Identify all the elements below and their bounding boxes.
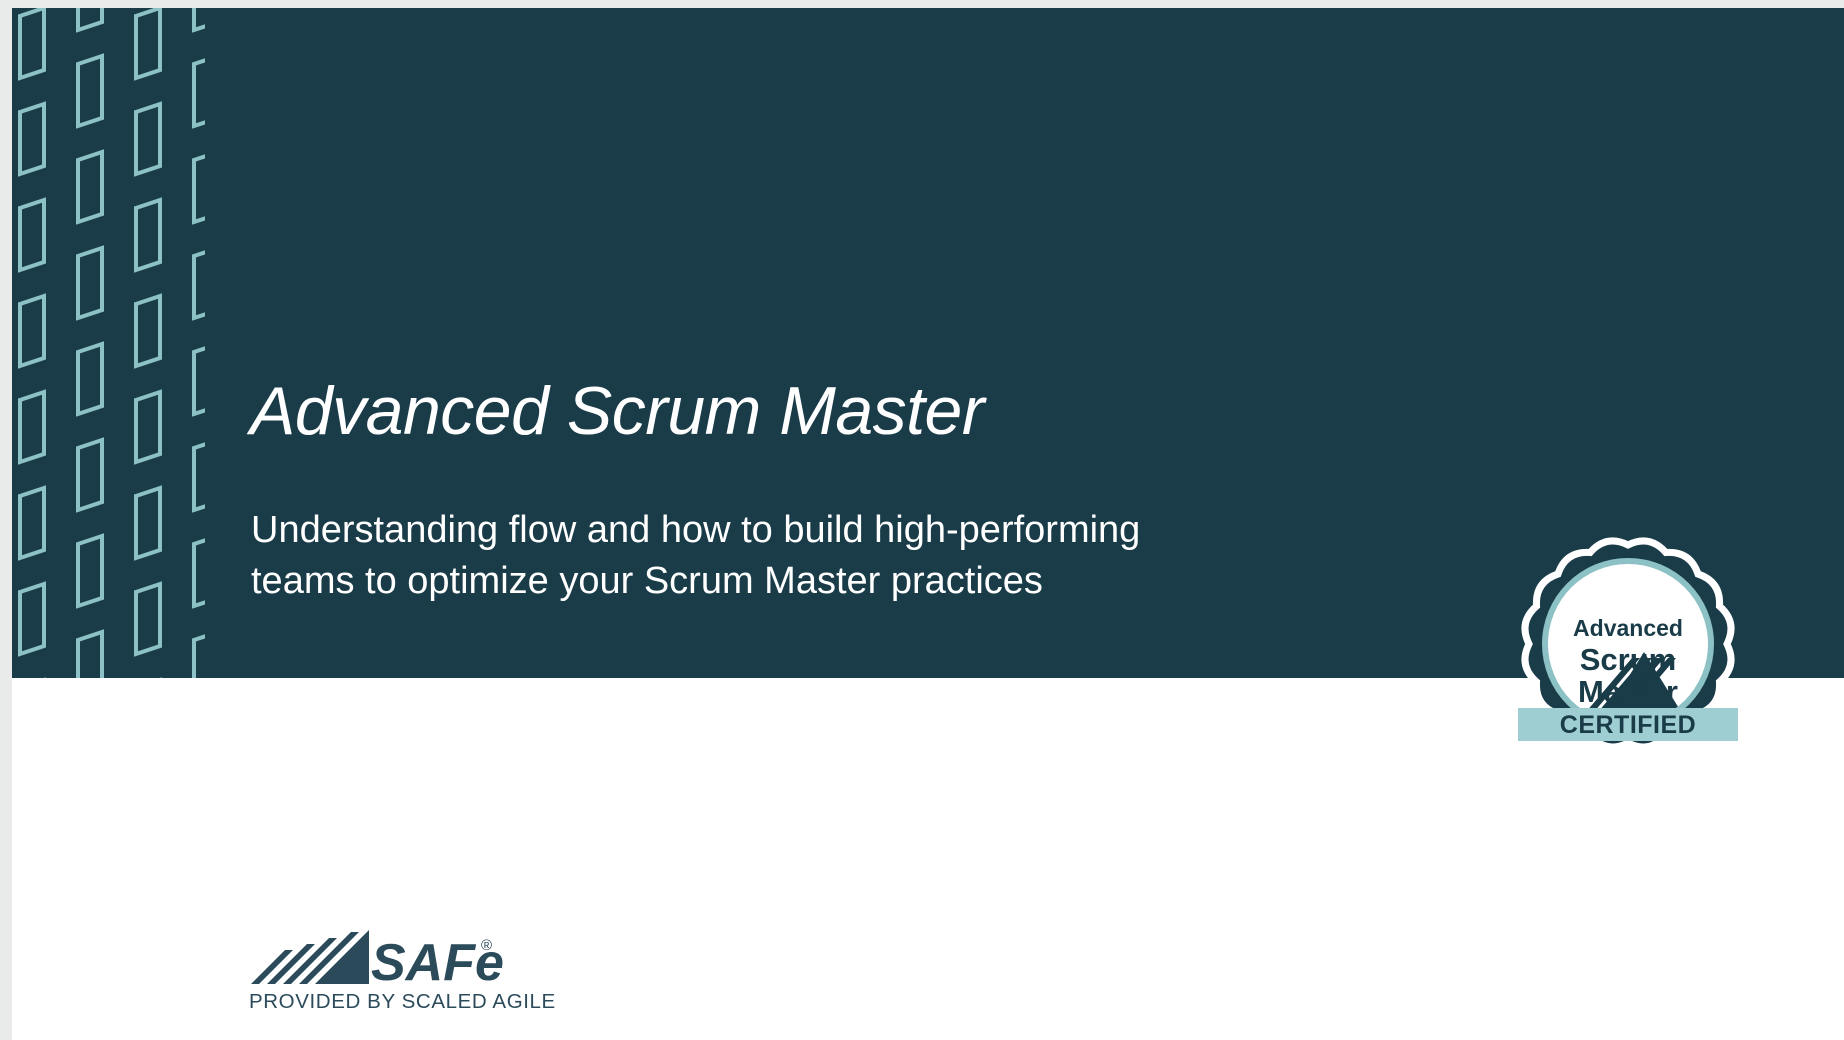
pattern-cell	[136, 584, 160, 654]
page-title: Advanced Scrum Master	[250, 376, 984, 447]
badge-svg: Advanced Scrum Master CERTIFIED	[1512, 530, 1744, 772]
pattern-cell	[78, 8, 102, 30]
pattern-cell	[78, 152, 102, 222]
badge-ribbon-label: CERTIFIED	[1560, 711, 1696, 739]
certification-seal-icon: Advanced Scrum Master CERTIFIED	[1512, 530, 1744, 772]
pattern-cell	[194, 344, 205, 414]
pattern-cell	[194, 536, 205, 606]
safe-mark-svg: SAFe ®	[249, 928, 504, 990]
badge-line-1: Advanced	[1573, 615, 1683, 641]
pattern-cell	[20, 200, 44, 270]
pattern-cell	[78, 56, 102, 126]
pattern-svg	[0, 8, 205, 678]
pattern-cell	[78, 344, 102, 414]
page-edge-left	[0, 0, 12, 1040]
pattern-cell	[194, 440, 205, 510]
pattern-cell	[20, 104, 44, 174]
safe-mountain-icon: SAFe ®	[249, 928, 504, 990]
pattern-cell	[20, 584, 44, 654]
subtitle-line-1: Understanding flow and how to build high…	[251, 505, 1271, 556]
pattern-cell	[194, 632, 205, 678]
pattern-cell	[136, 200, 160, 270]
pattern-cell	[20, 8, 44, 78]
safe-logo: SAFe ® PROVIDED BY SCALED AGILE	[249, 928, 504, 1023]
slanted-rectangles-pattern	[0, 8, 205, 678]
safe-tagline: PROVIDED BY SCALED AGILE	[249, 990, 556, 1014]
pattern-cell	[20, 296, 44, 366]
pattern-cell	[78, 632, 102, 678]
pattern-cell	[78, 536, 102, 606]
pattern-cell	[20, 392, 44, 462]
pattern-cell	[194, 248, 205, 318]
pattern-cell	[20, 488, 44, 558]
pattern-cell	[136, 296, 160, 366]
pattern-cell	[136, 392, 160, 462]
slide-canvas: Advanced Scrum Master Understanding flow…	[0, 0, 1844, 1040]
page-edge-top	[0, 0, 1844, 8]
safe-mountains	[251, 930, 369, 984]
safe-trademark: ®	[481, 937, 492, 954]
pattern-cell	[78, 440, 102, 510]
pattern-cell	[194, 56, 205, 126]
pattern-cell	[136, 488, 160, 558]
pattern-cell	[194, 152, 205, 222]
pattern-cell	[136, 8, 160, 78]
pattern-cell	[78, 248, 102, 318]
pattern-cell	[194, 8, 205, 30]
badge-line-2: Scrum	[1580, 642, 1676, 677]
subtitle-line-2: teams to optimize your Scrum Master prac…	[251, 556, 1271, 607]
pattern-cell	[136, 104, 160, 174]
badge-line-3: Master	[1578, 674, 1678, 709]
page-subtitle: Understanding flow and how to build high…	[251, 505, 1271, 607]
